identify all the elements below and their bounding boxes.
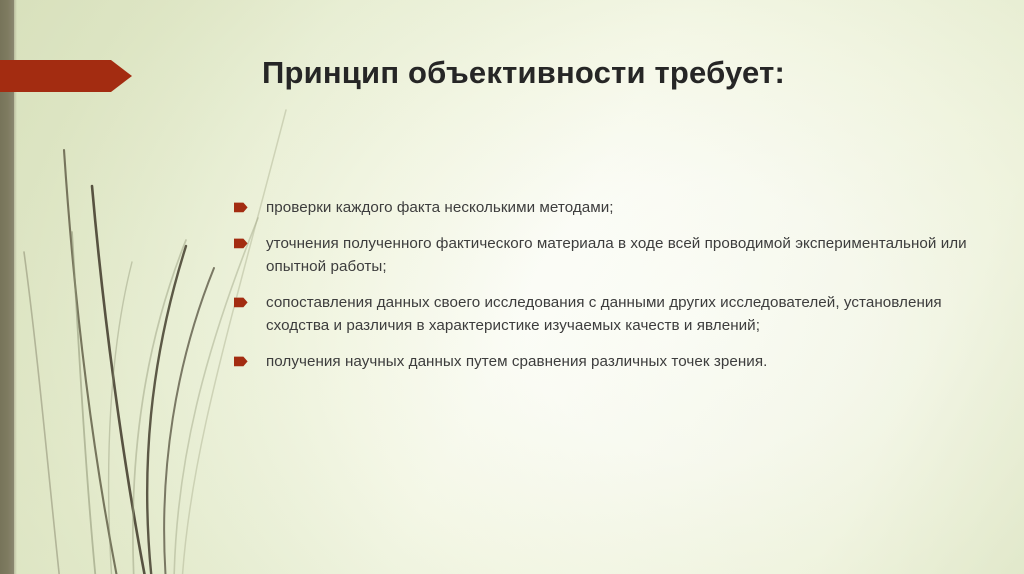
pennant-bullet-icon (234, 238, 248, 249)
list-item-text: проверки каждого факта несколькими метод… (266, 196, 974, 219)
title-arrow-banner (0, 60, 132, 92)
list-item-text: получения научных данных путем сравнения… (266, 350, 974, 373)
list-item: проверки каждого факта несколькими метод… (234, 196, 974, 219)
slide-title: Принцип объективности требует: (262, 54, 962, 93)
pennant-bullet-icon (234, 202, 248, 213)
arrow-banner-icon (0, 60, 132, 92)
list-item: сопоставления данных своего исследования… (234, 291, 974, 337)
pennant-bullet-icon (234, 356, 248, 367)
pennant-bullet-icon (234, 297, 248, 308)
list-item-text: сопоставления данных своего исследования… (266, 291, 974, 337)
presentation-slide: Принцип объективности требует: проверки … (0, 0, 1024, 574)
list-item: уточнения полученного фактического матер… (234, 232, 974, 278)
slide-body-list: проверки каждого факта несколькими метод… (234, 196, 974, 387)
list-item: получения научных данных путем сравнения… (234, 350, 974, 373)
list-item-text: уточнения полученного фактического матер… (266, 232, 974, 278)
